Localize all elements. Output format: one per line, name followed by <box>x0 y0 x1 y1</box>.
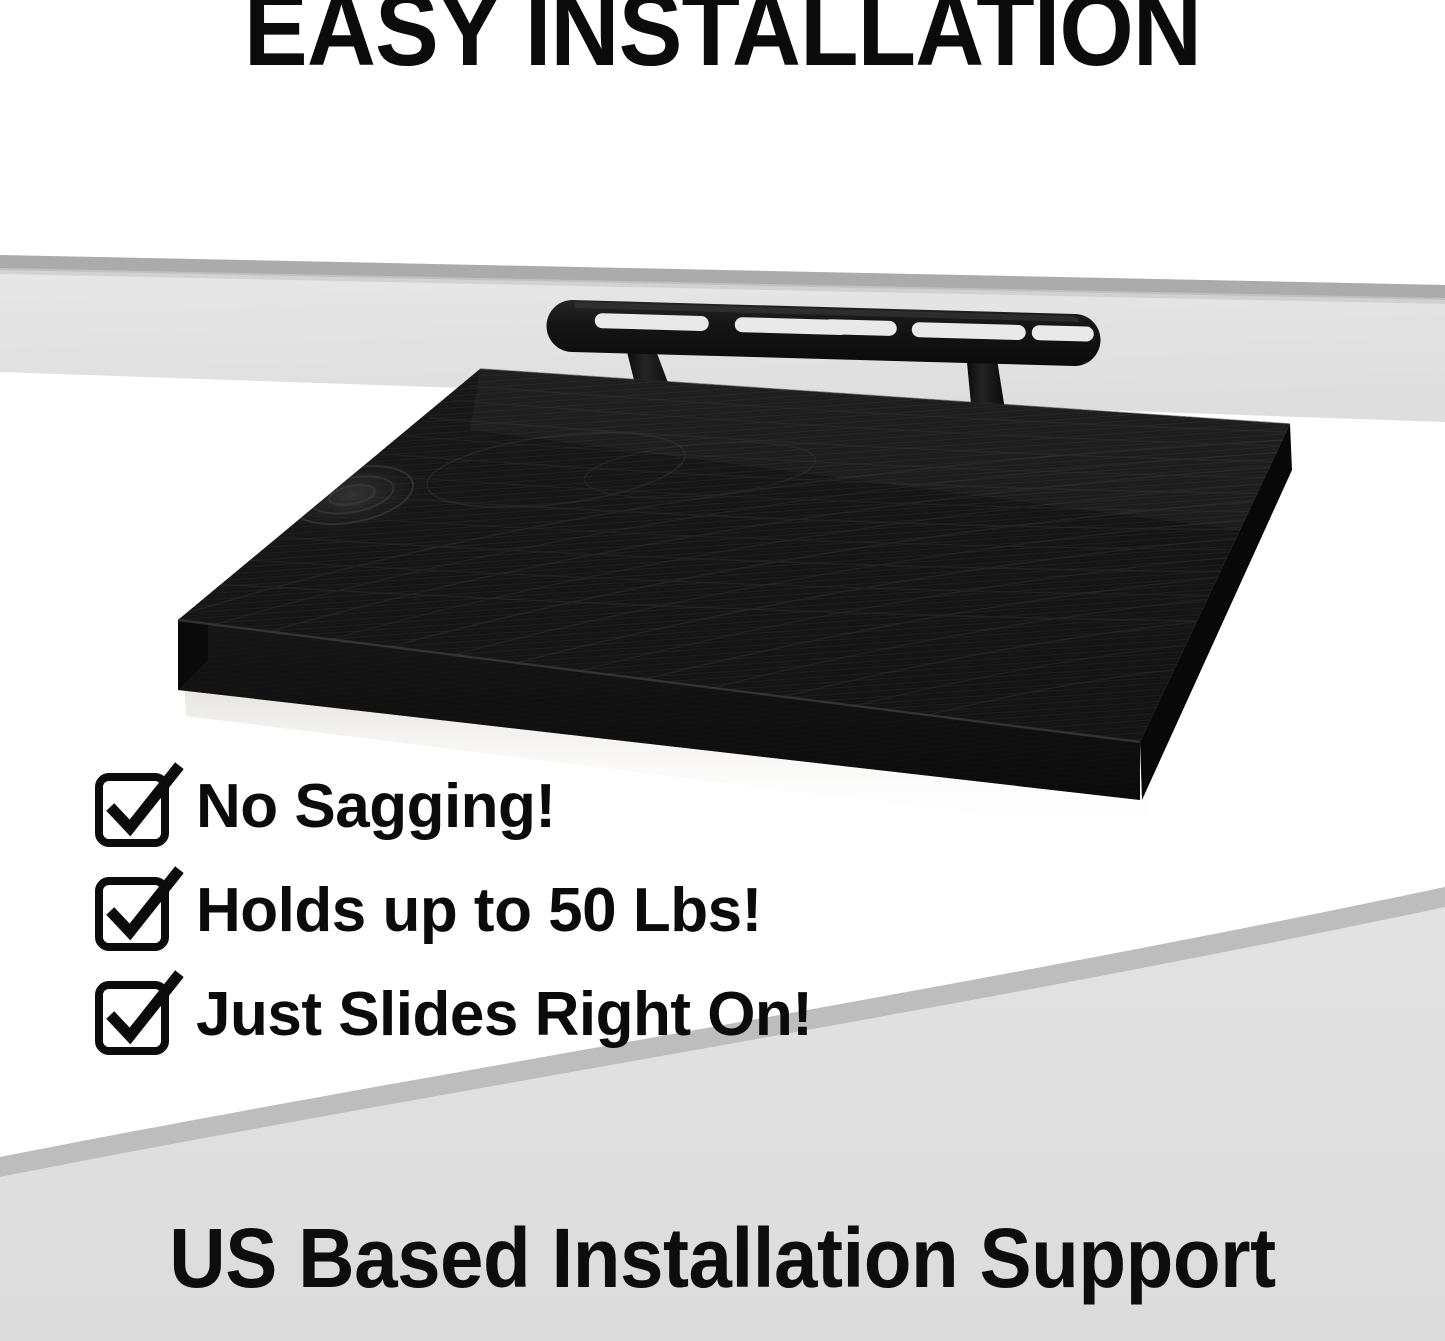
checklist-item: Just Slides Right On! <box>96 963 996 1067</box>
page-title: EASY INSTALLATION <box>58 0 1387 82</box>
checklist-item-label: Just Slides Right On! <box>196 984 812 1046</box>
checklist-item-label: Holds up to 50 Lbs! <box>196 880 762 942</box>
feature-checklist: No Sagging! Holds up to 50 Lbs! Just Sli… <box>96 755 996 1067</box>
checkbox-checked-icon <box>96 874 170 948</box>
checklist-item: No Sagging! <box>96 755 996 859</box>
product-photo <box>0 0 1445 1341</box>
support-banner-text: US Based Installation Support <box>51 1216 1395 1300</box>
checkbox-checked-icon <box>96 978 170 1052</box>
checklist-item: Holds up to 50 Lbs! <box>96 859 996 963</box>
checklist-item-label: No Sagging! <box>196 776 556 838</box>
checkbox-checked-icon <box>96 770 170 844</box>
product-infographic: EASY INSTALLATION No Sagging! Holds up t… <box>0 0 1445 1341</box>
